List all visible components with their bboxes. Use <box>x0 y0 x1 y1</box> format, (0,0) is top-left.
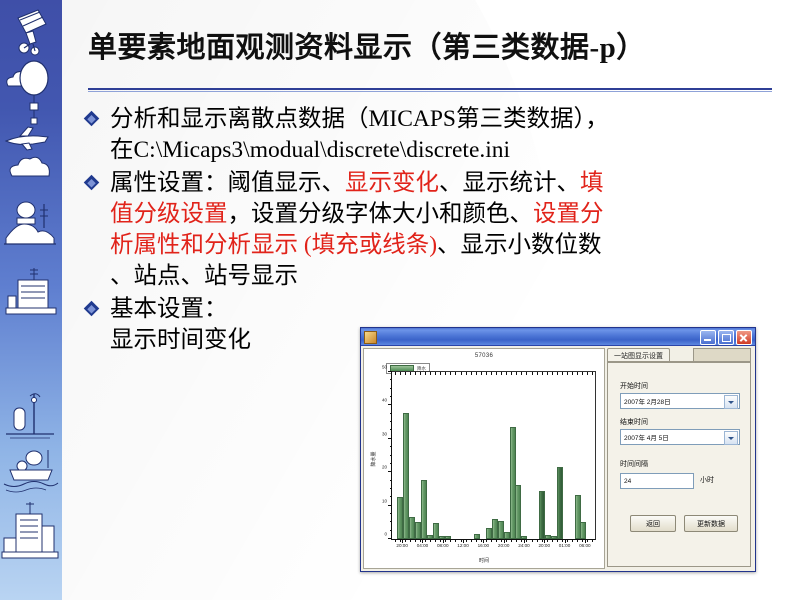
bullet-line: 属性设置：阈值显示、显示变化、显示统计、填 <box>110 168 784 199</box>
x-tick-label: 08:00 <box>437 543 449 548</box>
y-tick-label: 0 <box>384 532 387 537</box>
chevron-down-icon[interactable] <box>724 395 738 409</box>
decorative-sidebar <box>0 0 62 600</box>
y-tick-label: 40 <box>382 398 387 403</box>
x-tick-label: 20:00 <box>498 543 510 548</box>
bullet-line: 值分级设置，设置分级字体大小和颜色、设置分 <box>110 199 784 230</box>
chart-plot-area: 01020304050 20:0004:0008:0012:0016:0020:… <box>391 371 596 540</box>
back-button[interactable]: 返回 <box>630 515 676 532</box>
y-tick-label: 50 <box>382 365 387 370</box>
page-title: 单要素地面观测资料显示（第三类数据-p） <box>88 24 778 66</box>
slide-body: 分析和显示离散点数据（MICAPS第三类数据）， 在C:\Micaps3\mod… <box>84 104 784 358</box>
start-time-label: 开始时间 <box>620 381 648 391</box>
chevron-down-icon[interactable] <box>724 431 738 445</box>
chart-bar <box>580 522 586 539</box>
chart-bar <box>557 467 563 539</box>
time-interval-input[interactable]: 24 <box>620 473 694 489</box>
chart-bar <box>515 485 521 539</box>
settings-body: 开始时间 2007年 2月28日 结束时间 2007年 4月 5日 时间间隔 2… <box>607 362 751 567</box>
x-tick-label: 06:00 <box>579 543 591 548</box>
title-divider <box>88 88 772 93</box>
observatory-building-icon <box>0 262 62 324</box>
y-tick-label: 20 <box>382 465 387 470</box>
window-body: 57036 降水 降水量 时间 01020304050 20:0004:0008… <box>361 346 755 571</box>
bullet-line: 分析和显示离散点数据（MICAPS第三类数据）， <box>110 104 784 135</box>
chart-bar <box>539 491 545 539</box>
bullet-marker-icon <box>84 111 100 127</box>
maximize-button[interactable] <box>718 330 734 345</box>
bullet-line: 在C:\Micaps3\modual\discrete\discrete.ini <box>110 135 784 166</box>
bullet-marker-icon <box>84 175 100 191</box>
x-tick-label: 12:00 <box>457 543 469 548</box>
app-icon <box>364 331 377 344</box>
x-tick-label: 16:00 <box>478 543 490 548</box>
time-interval-label: 时间间隔 <box>620 459 648 469</box>
bullet-line: 基本设置： <box>110 294 784 325</box>
x-tick-label: 24:00 <box>518 543 530 548</box>
bullet-line: 析属性和分析显示 (填充或线条)、显示小数位数 <box>110 230 784 261</box>
bullet-attribute-settings: 属性设置：阈值显示、显示变化、显示统计、填 值分级设置，设置分级字体大小和颜色、… <box>84 168 784 292</box>
tab-strip: 一站图显示设置 <box>607 348 751 363</box>
satellite-icon <box>0 4 62 64</box>
x-axis-label: 时间 <box>364 557 604 564</box>
bullet-analysis: 分析和显示离散点数据（MICAPS第三类数据）， 在C:\Micaps3\mod… <box>84 104 784 166</box>
close-button[interactable] <box>736 330 752 345</box>
precipitation-chart: 57036 降水 降水量 时间 01020304050 20:0004:0008… <box>363 348 605 569</box>
radar-station-icon <box>0 196 62 258</box>
y-tick-label: 30 <box>382 431 387 436</box>
minimize-button[interactable] <box>700 330 716 345</box>
cloud-icon <box>0 152 62 182</box>
x-tick-label: 20:00 <box>396 543 408 548</box>
y-tick-label: 10 <box>382 498 387 503</box>
window-titlebar[interactable] <box>361 328 755 346</box>
chart-bar <box>421 480 427 539</box>
time-interval-unit: 小时 <box>700 475 714 485</box>
x-tick-label: 04:00 <box>417 543 429 548</box>
meteorological-office-icon <box>0 498 62 568</box>
settings-panel: 一站图显示设置 开始时间 2007年 2月28日 结束时间 2007年 4月 5… <box>607 348 751 567</box>
refresh-data-button[interactable]: 更新数据 <box>684 515 738 532</box>
end-time-combo[interactable]: 2007年 4月 5日 <box>620 429 740 445</box>
chart-title: 57036 <box>364 353 604 359</box>
x-tick-label: 01:00 <box>559 543 571 548</box>
y-axis-label: 降水量 <box>370 451 377 466</box>
airplane-icon <box>0 124 62 154</box>
embedded-app-window: 57036 降水 降水量 时间 01020304050 20:0004:0008… <box>360 327 756 572</box>
chart-bars <box>392 372 595 539</box>
research-ship-icon <box>0 440 62 502</box>
bullet-marker-icon <box>84 301 100 317</box>
window-controls <box>700 330 752 345</box>
start-time-combo[interactable]: 2007年 2月28日 <box>620 393 740 409</box>
end-time-label: 结束时间 <box>620 417 648 427</box>
x-tick-label: 20:00 <box>539 543 551 548</box>
bullet-line: 、站点、站号显示 <box>110 261 784 292</box>
